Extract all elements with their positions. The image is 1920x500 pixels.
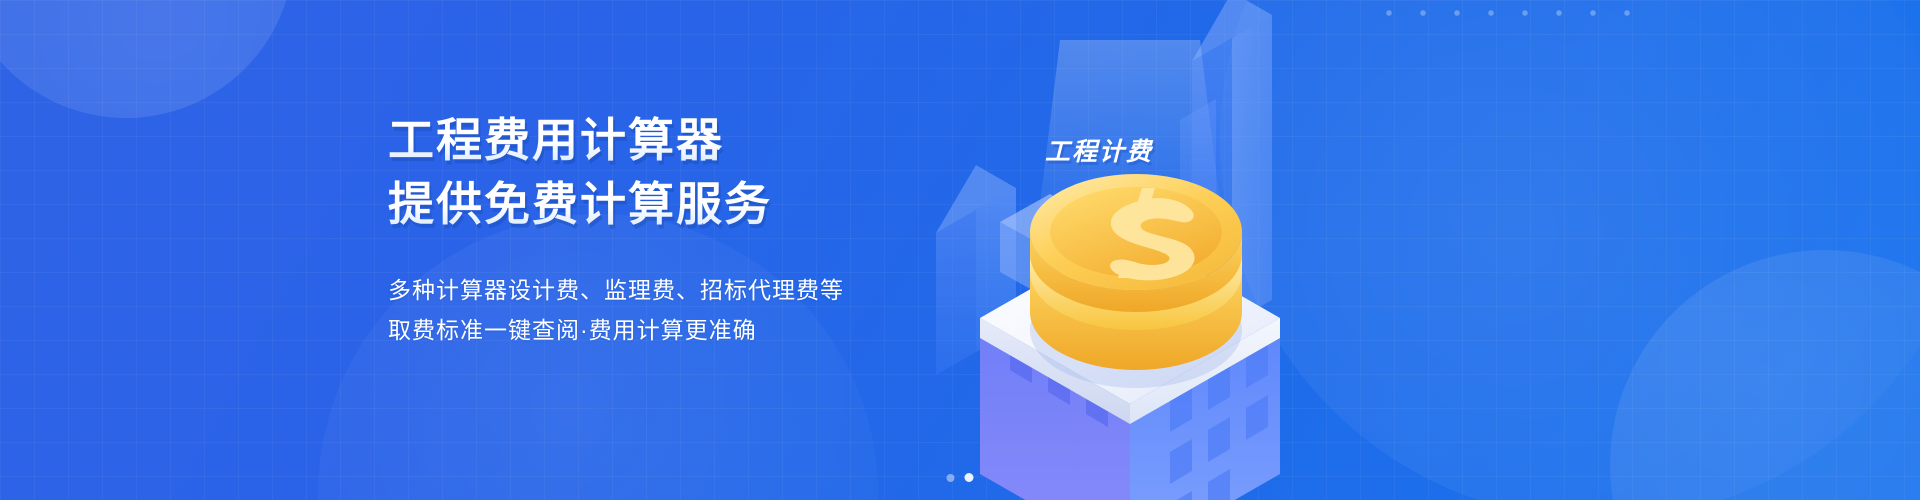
dollar-sign-icon bbox=[1110, 188, 1194, 280]
background-bars bbox=[936, 0, 1272, 375]
illustration-badge-label: 工程计费 bbox=[1045, 132, 1153, 168]
promo-banner: 工程费用计算器 提供免费计算服务 多种计算器设计费、监理费、招标代理费等 取费标… bbox=[0, 0, 1920, 500]
grid-pattern-background bbox=[0, 0, 1920, 500]
floating-cube bbox=[1000, 194, 1100, 300]
banner-subcopy: 多种计算器设计费、监理费、招标代理费等 取费标准一键查阅·费用计算更准确 bbox=[388, 270, 948, 350]
banner-illustration bbox=[880, 0, 1580, 500]
carousel-pagination[interactable] bbox=[947, 473, 974, 482]
building-windows-right bbox=[1170, 343, 1268, 500]
headline-line-2: 提供免费计算服务 bbox=[388, 176, 948, 232]
banner-copy: 工程费用计算器 提供免费计算服务 多种计算器设计费、监理费、招标代理费等 取费标… bbox=[388, 112, 948, 350]
carousel-dot-2[interactable] bbox=[965, 473, 974, 482]
light-sweep-decoration bbox=[1220, 0, 1920, 500]
white-platform bbox=[980, 232, 1280, 424]
building-windows-left bbox=[1010, 338, 1108, 427]
subcopy-line-1: 多种计算器设计费、监理费、招标代理费等 bbox=[388, 270, 948, 310]
circle-decoration-top-left bbox=[0, 0, 294, 118]
subcopy-line-2: 取费标准一键查阅·费用计算更准确 bbox=[388, 310, 948, 350]
carousel-dot-1[interactable] bbox=[947, 474, 955, 482]
dot-grid-decoration bbox=[1372, 0, 1640, 36]
gold-coin-stack bbox=[1030, 174, 1242, 388]
isometric-building bbox=[980, 318, 1280, 500]
circle-decoration-bottom-right bbox=[1610, 250, 1920, 500]
headline-line-1: 工程费用计算器 bbox=[388, 112, 948, 168]
